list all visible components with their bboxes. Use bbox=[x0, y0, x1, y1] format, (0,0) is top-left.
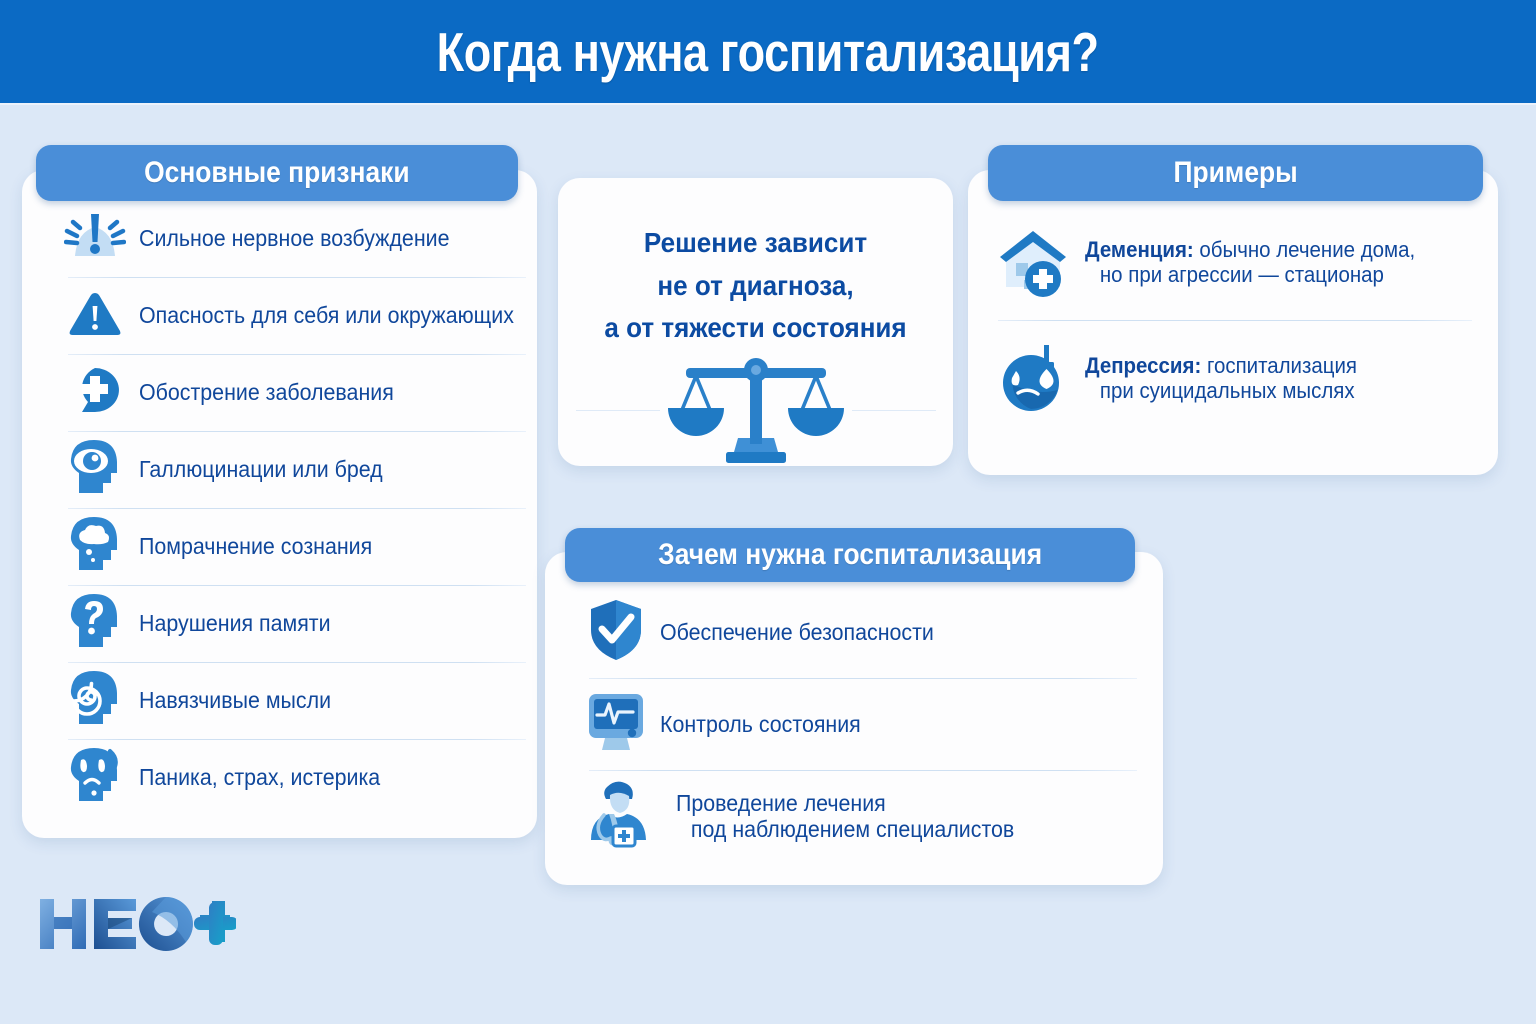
list-item-text-1: Проведение лечения bbox=[676, 790, 1014, 816]
why-hospitalization-card-title: Зачем нужна госпитализация bbox=[658, 538, 1042, 572]
why-hospitalization-card-header: Зачем нужна госпитализация bbox=[565, 528, 1135, 582]
page-title: Когда нужна госпитализация? bbox=[437, 20, 1099, 84]
list-item-label: Обеспечение безопасности bbox=[660, 619, 934, 645]
list-item[interactable]: Навязчивые мысли bbox=[64, 662, 534, 739]
neo-plus-logo-icon bbox=[36, 893, 236, 955]
list-item[interactable]: Помрачнение сознания bbox=[64, 508, 534, 585]
main-signs-card-header: Основные признаки bbox=[36, 145, 518, 201]
brand-logo bbox=[36, 893, 236, 960]
main-signs-card-title: Основные признаки bbox=[144, 156, 410, 190]
decision-statement-text: Решение зависит не от диагноза, а от тяж… bbox=[558, 222, 953, 350]
medical-cross-speech-bubble-icon bbox=[64, 362, 126, 423]
list-item[interactable]: Паника, страх, истерика bbox=[64, 739, 534, 816]
list-item[interactable]: Обострение заболевания bbox=[64, 354, 534, 431]
list-item-label: Проведение лечения под наблюдением специ… bbox=[676, 790, 1014, 843]
list-item[interactable]: Галлюцинации или бред bbox=[64, 431, 534, 508]
examples-list: Деменция: обычно лечение дома, но при аг… bbox=[994, 204, 1480, 436]
sad-face-teardrop-icon bbox=[994, 337, 1072, 420]
exclamation-burst-icon bbox=[64, 208, 126, 269]
list-item-label: Деменция: обычно лечение дома, но при аг… bbox=[1085, 237, 1415, 288]
list-item-text-2: при суицидальных мыслях bbox=[1085, 378, 1357, 403]
list-item-label: Помрачнение сознания bbox=[139, 533, 372, 559]
examples-card: Деменция: обычно лечение дома, но при аг… bbox=[968, 170, 1498, 475]
decision-statement-card: Решение зависит не от диагноза, а от тяж… bbox=[558, 178, 953, 466]
decision-scales-row bbox=[558, 352, 953, 469]
examples-card-title: Примеры bbox=[1173, 156, 1297, 190]
list-item[interactable]: Депрессия: госпитализация при суицидальн… bbox=[994, 320, 1480, 436]
house-with-medical-cross-icon bbox=[994, 221, 1072, 304]
head-cloud-icon bbox=[64, 514, 126, 579]
examples-card-header: Примеры bbox=[988, 145, 1483, 201]
list-item-term: Депрессия: bbox=[1085, 353, 1201, 378]
main-signs-card: Сильное нервное возбуждение Опасность дл… bbox=[22, 170, 537, 838]
head-fearful-face-icon bbox=[64, 745, 126, 810]
list-item[interactable]: Нарушения памяти bbox=[64, 585, 534, 662]
head-eye-icon bbox=[64, 437, 126, 502]
list-item[interactable]: Сильное нервное возбуждение bbox=[64, 200, 534, 277]
list-item-term: Деменция: bbox=[1085, 237, 1194, 262]
list-item-label: Опасность для себя или окружающих bbox=[139, 302, 514, 328]
shield-check-icon bbox=[585, 596, 647, 669]
list-item-label: Паника, страх, истерика bbox=[139, 764, 380, 790]
head-question-mark-icon bbox=[64, 591, 126, 656]
why-hospitalization-list: Обеспечение безопасности Контроль состоя… bbox=[585, 586, 1145, 862]
vital-signs-monitor-icon bbox=[585, 688, 647, 761]
list-item[interactable]: Контроль состояния bbox=[585, 678, 1145, 770]
divider-left bbox=[576, 410, 660, 411]
list-item-label: Галлюцинации или бред bbox=[139, 456, 383, 482]
list-item-label: Обострение заболевания bbox=[139, 379, 394, 405]
list-item-label: Контроль состояния bbox=[660, 711, 861, 737]
decision-line-1: Решение зависит bbox=[572, 222, 939, 265]
list-item-text-1: госпитализация bbox=[1201, 353, 1357, 378]
list-item-text-1: обычно лечение дома, bbox=[1194, 237, 1415, 262]
main-signs-list: Сильное нервное возбуждение Опасность дл… bbox=[64, 200, 534, 816]
page-header: Когда нужна госпитализация? bbox=[0, 0, 1536, 103]
decision-line-3: а от тяжести состояния bbox=[572, 307, 939, 350]
list-item-label: Навязчивые мысли bbox=[139, 687, 331, 713]
divider-right bbox=[852, 410, 936, 411]
list-item-label: Депрессия: госпитализация при суицидальн… bbox=[1085, 353, 1357, 404]
list-item-label: Нарушения памяти bbox=[139, 610, 331, 636]
doctor-with-medical-kit-icon bbox=[585, 775, 663, 858]
balance-scales-icon bbox=[660, 352, 852, 469]
list-item[interactable]: Опасность для себя или окружающих bbox=[64, 277, 534, 354]
warning-triangle-icon bbox=[64, 285, 126, 346]
list-item-label: Сильное нервное возбуждение bbox=[139, 225, 449, 251]
decision-line-2: не от диагноза, bbox=[572, 265, 939, 308]
list-item[interactable]: Деменция: обычно лечение дома, но при аг… bbox=[994, 204, 1480, 320]
list-item-text-2: под наблюдением специалистов bbox=[676, 816, 1014, 842]
why-hospitalization-card: Обеспечение безопасности Контроль состоя… bbox=[545, 552, 1163, 885]
list-item-text-2: но при агрессии — стационар bbox=[1085, 262, 1415, 287]
list-item[interactable]: Проведение лечения под наблюдением специ… bbox=[585, 770, 1145, 862]
head-spiral-icon bbox=[64, 668, 126, 733]
list-item[interactable]: Обеспечение безопасности bbox=[585, 586, 1145, 678]
